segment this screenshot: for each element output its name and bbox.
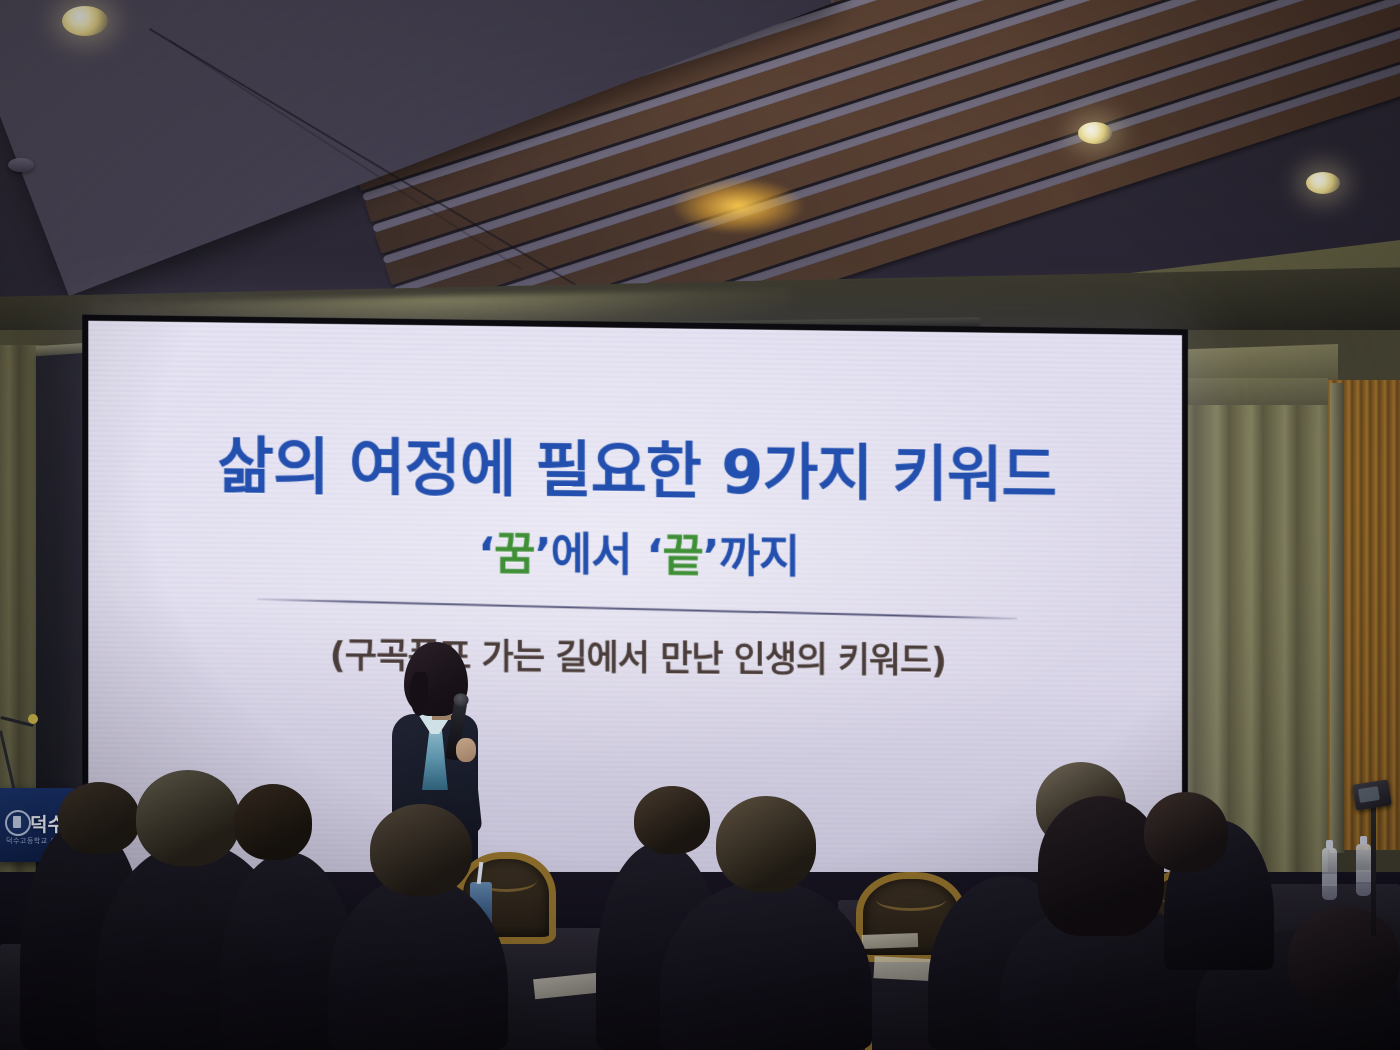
slide-subtitle-part-1: 꿈 [494, 527, 535, 581]
school-emblem-icon [5, 810, 31, 836]
audience-head [1144, 792, 1228, 872]
audience-head [634, 786, 710, 854]
slide-subtitle-part-0: ‘ [478, 527, 494, 580]
mic-capsule [28, 714, 38, 724]
camera-tripod [1371, 796, 1376, 936]
water-bottle [1356, 844, 1371, 896]
slide-subtitle-part-2: ’에서 ‘ [535, 528, 663, 582]
audience-head [716, 796, 816, 892]
audience-head [1038, 796, 1164, 936]
sprinkler-head [8, 158, 34, 172]
audience-head [58, 782, 140, 854]
presentation-room-photo: 삶의 여정에 필요한 9가지 키워드 ‘꿈’에서 ‘끝’까지 (구곡폭포 가는 … [0, 0, 1400, 1050]
slide-subtitle-part-3: 끝 [662, 529, 702, 582]
audience-head [136, 770, 240, 866]
video-camera [1352, 779, 1392, 810]
ceiling-spotlight [1306, 172, 1340, 194]
slide-subtitle: ‘꿈’에서 ‘끝’까지 [478, 517, 799, 585]
slide-divider-rule [257, 598, 1017, 619]
presenter-hand [456, 738, 476, 762]
ceiling-spotlight [62, 6, 108, 36]
audience-head [234, 784, 312, 860]
water-bottle [1322, 848, 1337, 900]
podium-microphone [0, 706, 40, 786]
wall-trim-right [1330, 383, 1344, 853]
mic-stem [0, 730, 16, 791]
slide-title: 삶의 여정에 필요한 9가지 키워드 [217, 435, 1056, 509]
audience-head [370, 804, 472, 896]
slide-subtitle-part-4: ’까지 [703, 529, 800, 583]
ceiling-spotlight [1078, 122, 1112, 144]
audience-head [1288, 906, 1400, 1010]
paper-sheet [862, 933, 918, 949]
